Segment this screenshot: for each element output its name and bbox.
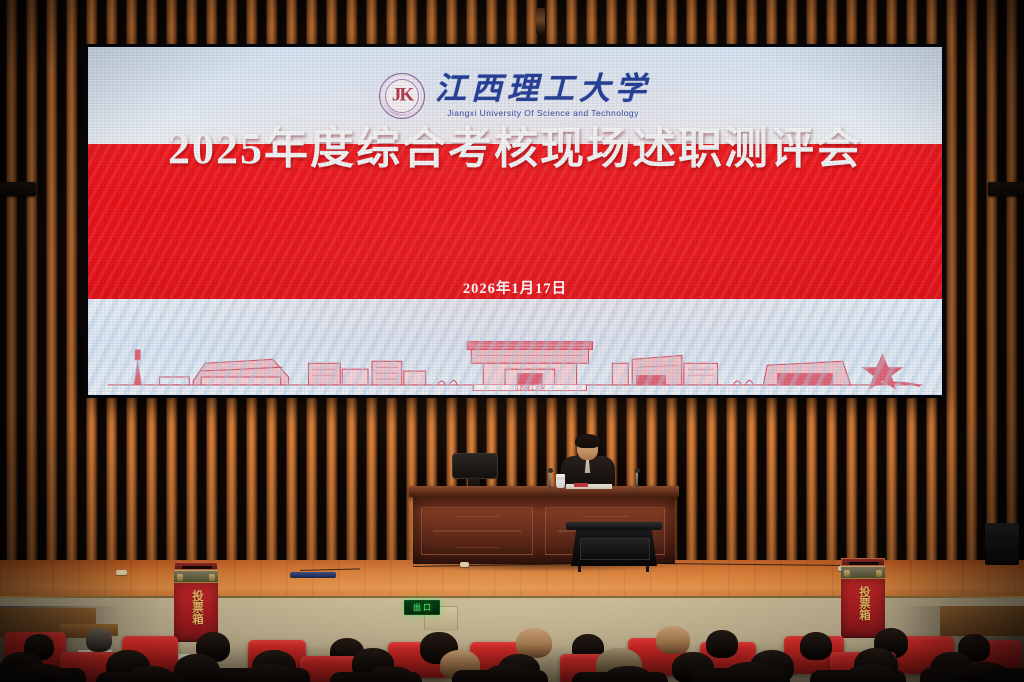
empty-chair bbox=[452, 453, 496, 489]
audience-member bbox=[800, 632, 832, 660]
audience-desk-far-right bbox=[940, 606, 1024, 636]
audience-area bbox=[0, 606, 1024, 682]
stage-equipment-box bbox=[290, 572, 336, 578]
seated-official bbox=[560, 436, 616, 490]
ballot-slot-icon bbox=[849, 562, 879, 565]
wall-speaker-right bbox=[988, 182, 1024, 196]
audience-member bbox=[366, 666, 414, 682]
stage-small-object-1 bbox=[116, 570, 127, 575]
audience-member bbox=[956, 662, 1010, 682]
skyline-gate-caption: 江西理工大学 bbox=[514, 384, 545, 391]
desk-microphone-left bbox=[549, 472, 551, 490]
wall-speaker-left bbox=[0, 182, 36, 196]
ballot-box-band bbox=[174, 570, 218, 583]
event-title: 2025年度综合考核现场述职测评会 bbox=[88, 127, 942, 171]
desk-red-marker bbox=[574, 483, 588, 487]
audience-member bbox=[846, 664, 896, 682]
stage-small-object-2 bbox=[460, 562, 469, 567]
audience-member bbox=[484, 664, 534, 682]
ceiling-light-fixture bbox=[536, 8, 545, 34]
ballot-slot-icon bbox=[182, 566, 212, 569]
audience-member bbox=[724, 662, 776, 682]
water-cup bbox=[556, 474, 565, 488]
audience-member bbox=[604, 666, 652, 682]
audience-member bbox=[706, 630, 738, 658]
audience-member bbox=[656, 626, 690, 654]
screen-band-bottom: 江西理工大学 bbox=[88, 299, 942, 395]
university-name-en: Jiangxi University Of Science and Techno… bbox=[447, 108, 639, 118]
emblem-monogram: JK bbox=[380, 84, 424, 106]
audience-member bbox=[86, 628, 112, 652]
ballot-box-band bbox=[841, 566, 885, 579]
stage-loudspeaker bbox=[985, 523, 1019, 565]
university-emblem-icon: JK bbox=[379, 73, 425, 119]
audience-member bbox=[126, 666, 174, 682]
ballot-box-lid bbox=[174, 562, 218, 570]
university-name-cn: 江西理工大学 bbox=[435, 73, 651, 104]
audience-member bbox=[244, 664, 294, 682]
led-screen[interactable]: JK 江西理工大学 Jiangxi University Of Science … bbox=[85, 44, 945, 398]
led-screen-content: JK 江西理工大学 Jiangxi University Of Science … bbox=[88, 47, 942, 395]
campus-skyline-illustration: 江西理工大学 bbox=[88, 320, 942, 391]
auditorium-scene: JK 江西理工大学 Jiangxi University Of Science … bbox=[0, 0, 1024, 682]
audience-member bbox=[16, 664, 68, 682]
desk-microphone-right bbox=[636, 472, 638, 490]
ballot-box-lid bbox=[841, 558, 885, 566]
desk-documents bbox=[566, 484, 612, 489]
event-date: 2026年1月17日 bbox=[88, 277, 942, 298]
speaker-lectern bbox=[566, 522, 662, 570]
